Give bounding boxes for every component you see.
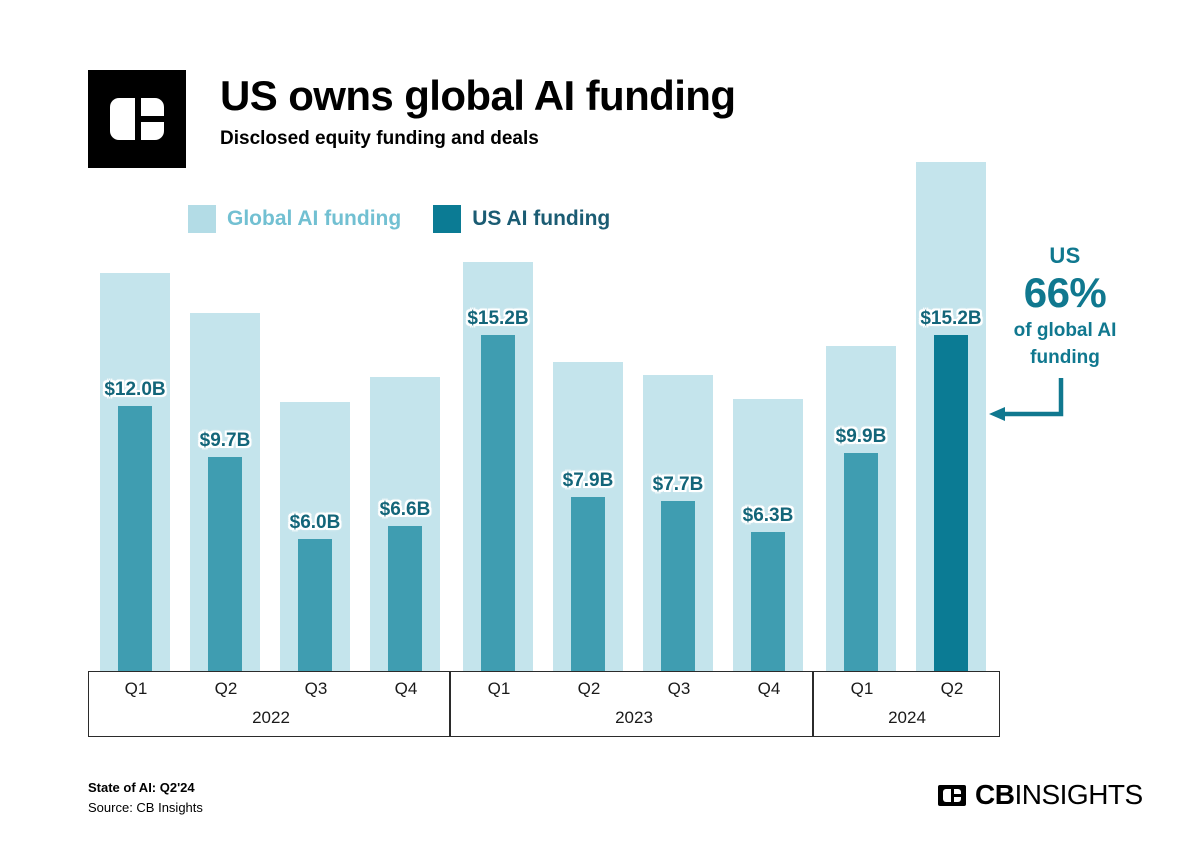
axis-quarter-label: Q4 — [758, 679, 781, 699]
elbow-arrow-left-icon — [985, 378, 1085, 424]
axis-quarter-label: Q2 — [215, 679, 238, 699]
bar-us-ai-funding — [118, 406, 152, 672]
bar-value-label: $7.7B — [653, 474, 704, 496]
axis-quarter-label: Q1 — [125, 679, 148, 699]
axis-quarter-label: Q3 — [668, 679, 691, 699]
callout-subline-1: of global AI — [990, 321, 1140, 342]
wordmark-insights: INSIGHTS — [1014, 779, 1142, 810]
chart-legend: Global AI fundingUS AI funding — [188, 205, 628, 233]
axis-year-label: 2024 — [888, 708, 926, 728]
axis-year-divider — [812, 672, 814, 736]
bar-value-label: $12.0B — [104, 379, 165, 401]
axis-quarter-label: Q2 — [578, 679, 601, 699]
bar-us-ai-funding — [388, 526, 422, 672]
axis-quarter-label: Q2 — [941, 679, 964, 699]
axis-quarter-label: Q1 — [851, 679, 874, 699]
bar-value-label: $7.9B — [563, 470, 614, 492]
legend-swatch-icon — [433, 205, 461, 233]
axis-year-label: 2023 — [615, 708, 653, 728]
chart-plot-area: $12.0B$9.7B$6.0B$6.6B$15.2B$7.9B$7.7B$6.… — [88, 262, 1000, 672]
axis-year-label: 2022 — [252, 708, 290, 728]
footer-wordmark: CBINSIGHTS — [975, 779, 1143, 811]
bar-value-label: $15.2B — [467, 308, 528, 330]
bar-value-label: $9.9B — [836, 426, 887, 448]
mark-horizontal-bar — [135, 116, 166, 122]
bar-value-label: $6.0B — [290, 512, 341, 534]
bar-value-label: $9.7B — [200, 430, 251, 452]
bar-value-label: $6.3B — [743, 505, 794, 527]
chart-header: US owns global AI funding Disclosed equi… — [88, 70, 735, 168]
cb-insights-mark-icon-small — [938, 785, 966, 806]
title-block: US owns global AI funding Disclosed equi… — [220, 70, 735, 150]
bar-us-ai-funding — [481, 335, 515, 672]
bar-value-label: $6.6B — [380, 499, 431, 521]
axis-quarter-label: Q3 — [305, 679, 328, 699]
legend-item-0: Global AI funding — [188, 205, 401, 233]
page-title: US owns global AI funding — [220, 74, 735, 118]
bar-us-ai-funding — [661, 501, 695, 672]
source-report-name: State of AI: Q2'24 — [88, 778, 203, 798]
callout-subline-2: funding — [990, 348, 1140, 369]
callout-annotation: US 66% of global AI funding — [990, 244, 1140, 368]
bar-us-ai-funding — [298, 539, 332, 672]
footer-source: State of AI: Q2'24 Source: CB Insights — [88, 778, 203, 817]
legend-item-1: US AI funding — [433, 205, 610, 233]
legend-swatch-icon — [188, 205, 216, 233]
bar-us-ai-funding — [571, 497, 605, 672]
axis-quarter-label: Q1 — [488, 679, 511, 699]
page-subtitle: Disclosed equity funding and deals — [220, 128, 735, 150]
source-attribution: Source: CB Insights — [88, 798, 203, 818]
cb-insights-mark-icon — [88, 70, 186, 168]
bar-value-label: $15.2B — [920, 308, 981, 330]
footer-logo: CBINSIGHTS — [938, 779, 1143, 811]
bar-us-ai-funding — [844, 453, 878, 672]
bar-us-ai-funding — [934, 335, 968, 672]
axis-quarter-label: Q4 — [395, 679, 418, 699]
bar-us-ai-funding — [751, 532, 785, 672]
legend-label: US AI funding — [472, 207, 610, 231]
bar-us-ai-funding — [208, 457, 242, 672]
wordmark-cb: CB — [975, 779, 1014, 810]
x-axis: Q1Q2Q3Q4Q1Q2Q3Q4Q1Q2202220232024 — [88, 671, 1000, 737]
callout-kicker: US — [990, 244, 1140, 268]
axis-year-divider — [449, 672, 451, 736]
legend-label: Global AI funding — [227, 207, 401, 231]
callout-percent: 66% — [990, 270, 1140, 315]
